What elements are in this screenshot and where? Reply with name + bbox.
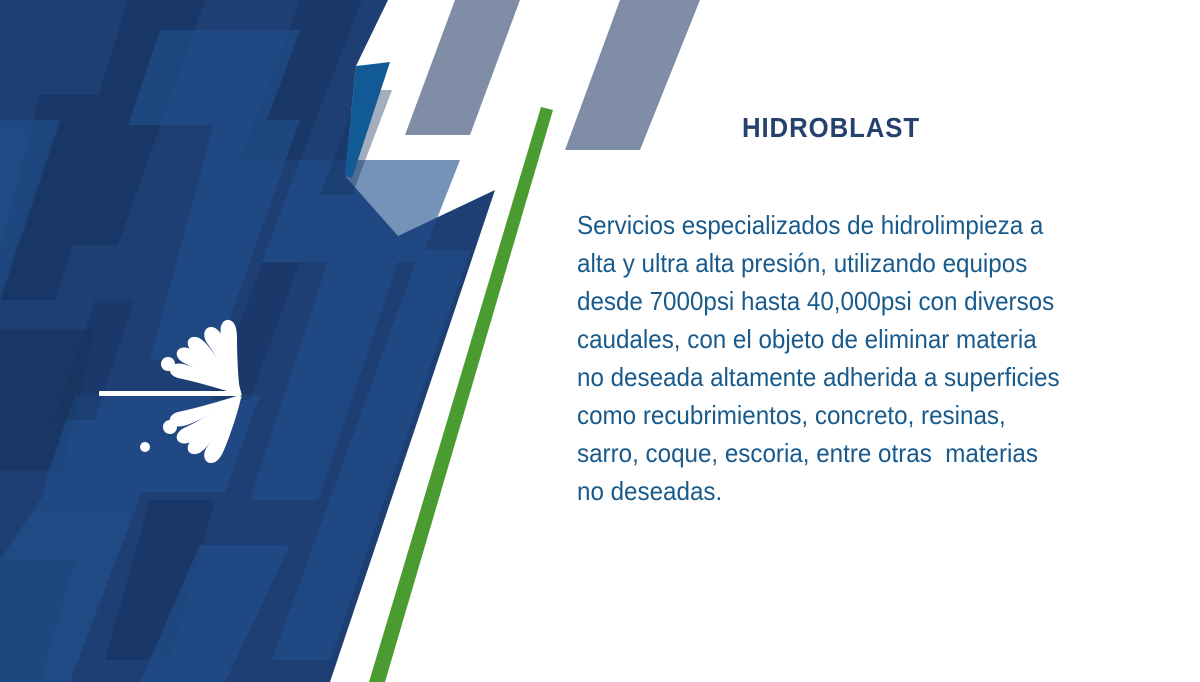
service-card: HIDROBLAST Servicios especializados de h… <box>0 0 1200 682</box>
droplet-lower-icon <box>163 420 177 434</box>
text-content: HIDROBLAST Servicios especializados de h… <box>577 112 1117 510</box>
droplet-upper-icon <box>161 357 175 371</box>
service-description: Servicios especializados de hidrolimpiez… <box>577 206 1070 510</box>
page-title: HIDROBLAST <box>597 112 1064 144</box>
droplet-small-icon <box>140 442 150 452</box>
water-jet-spray-icon <box>85 300 285 490</box>
lance-line-icon <box>99 391 241 396</box>
